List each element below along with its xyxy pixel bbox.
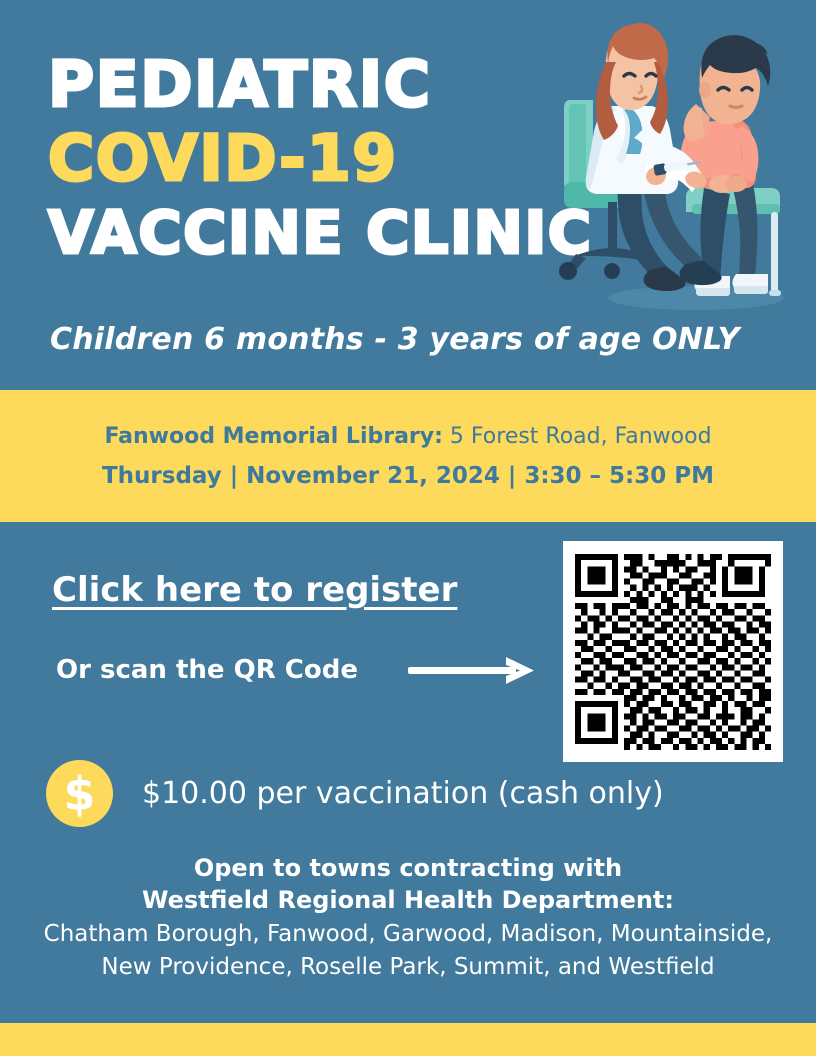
title-line-pediatric: PEDIATRIC bbox=[48, 48, 588, 122]
register-link[interactable]: Click here to register bbox=[52, 570, 457, 610]
qr-code-container[interactable] bbox=[563, 541, 783, 762]
towns-heading-line2: Westfield Regional Health Department: bbox=[0, 884, 816, 916]
venue-address: 5 Forest Road, Fanwood bbox=[443, 424, 712, 449]
poster-flyer: PEDIATRIC COVID-19 VACCINE CLINIC Childr… bbox=[0, 0, 816, 1056]
price-row: $ $10.00 per vaccination (cash only) bbox=[46, 760, 664, 827]
event-datetime: Thursday | November 21, 2024 | 3:30 – 5:… bbox=[102, 463, 714, 489]
towns-heading-line1: Open to towns contracting with bbox=[0, 852, 816, 884]
header-section: PEDIATRIC COVID-19 VACCINE CLINIC Childr… bbox=[0, 0, 816, 390]
scan-qr-label: Or scan the QR Code bbox=[56, 655, 358, 685]
dollar-coin-icon: $ bbox=[46, 760, 113, 827]
nurse-vaccinating-child-illustration bbox=[546, 18, 808, 318]
title-line-vaccine-clinic: VACCINE CLINIC bbox=[48, 196, 588, 270]
towns-list-line2: New Providence, Roselle Park, Summit, an… bbox=[0, 951, 816, 984]
title-line-covid19: COVID-19 bbox=[48, 122, 588, 196]
qr-code-image[interactable] bbox=[575, 554, 771, 750]
arrow-right-icon bbox=[408, 654, 538, 686]
venue-name: Fanwood Memorial Library: bbox=[104, 424, 443, 449]
eligible-towns-block: Open to towns contracting with Westfield… bbox=[0, 852, 816, 984]
event-info-band: Fanwood Memorial Library: 5 Forest Road,… bbox=[0, 390, 816, 522]
bottom-accent-band bbox=[0, 1023, 816, 1056]
towns-list-line1: Chatham Borough, Fanwood, Garwood, Madis… bbox=[0, 918, 816, 951]
venue-line: Fanwood Memorial Library: 5 Forest Road,… bbox=[104, 424, 711, 449]
dollar-symbol: $ bbox=[63, 771, 95, 817]
age-eligibility-subtitle: Children 6 months - 3 years of age ONLY bbox=[50, 322, 740, 357]
title-block: PEDIATRIC COVID-19 VACCINE CLINIC bbox=[48, 48, 588, 270]
price-text: $10.00 per vaccination (cash only) bbox=[142, 776, 664, 811]
